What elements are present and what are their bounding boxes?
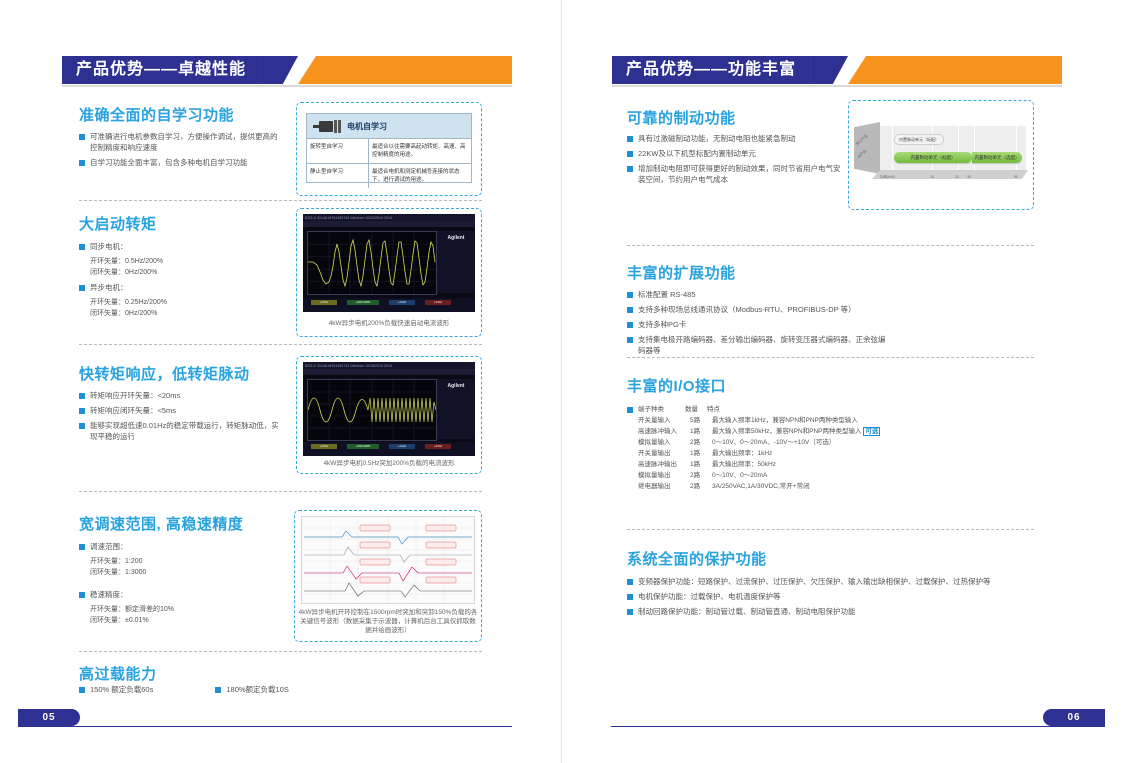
scope-menubar [303, 369, 475, 375]
section-heading-speed-range: 宽调速范围, 高稳速精度 [79, 513, 243, 534]
bullet-text: 能够实现超低速0.01Hz的稳定带载运行，转矩脉动低，实现平稳的运行 [90, 420, 284, 442]
io-qty: 1路 [690, 426, 712, 437]
chart-side-panel [854, 122, 880, 174]
brochure-spread: 产品优势——卓越性能 准确全面的自学习功能 可准确进行电机参数自学习，方便操作调… [0, 0, 1123, 763]
section-heading-torque-response: 快转矩响应，低转矩脉动 [79, 363, 250, 384]
io-qty: 2路 [690, 437, 712, 448]
io-feature: 最大输出频率：50kHz [712, 459, 927, 470]
scope-chip: +0.0A [425, 444, 451, 449]
scope-chip: +0.0A [389, 300, 415, 305]
group-line: 闭环矢量：±0.01% [79, 615, 279, 626]
scope-chip: +0.0A [425, 300, 451, 305]
bullet-text: 150% 额定负载60s [90, 684, 153, 695]
io-feature: 0～10V、0～20mA [712, 470, 927, 481]
oscilloscope-screenshot-1: DSO-X 3014A MY51450742 Infiniium 10/22/2… [303, 214, 475, 312]
bullet-text: 22KW及以下机型标配内置制动单元 [638, 148, 756, 159]
bullet-square-icon [627, 579, 633, 585]
bullet-text: 可准确进行电机参数自学习，方便操作调试，提供更高的控制精度和响应速度 [90, 131, 284, 153]
scope-brand-label: Agilent [437, 231, 475, 241]
bullet-text: 支持多种现场总线通讯协议（Modbus-RTU、PROFIBUS-DP 等） [638, 304, 856, 315]
chart-base [872, 170, 1028, 179]
braking-range-chart: 其它产品 本产品 内置制动单元（标配） 内置制动单元（标配） 内置制动单元（选配… [854, 122, 1030, 184]
footer-rule-left [18, 726, 512, 727]
scope-chip: +0.0A [389, 444, 415, 449]
io-type: 开关量输入 [638, 415, 690, 426]
io-feature: 最大输入频率50kHz，兼容NPN和PNP两种类型输入 可选 [712, 426, 927, 437]
scope-chip: +200.000S [347, 300, 379, 305]
bullet-text: 制动回路保护功能：制动管过载、制动管直通、制动电阻保护功能 [638, 606, 856, 617]
section-divider [627, 245, 1034, 246]
io-header-qty: 数量 [685, 404, 707, 415]
section-divider [79, 344, 482, 345]
bullet-text: 自学习功能全面丰富，包含多种电机自学习功能 [90, 157, 248, 168]
bullets-overload: 150% 额定负载60s 180%额定负载10S [79, 684, 409, 699]
io-type: 开关量输出 [638, 448, 690, 459]
list-item: 转矩响应闭环矢量：<5ms [79, 405, 284, 416]
figure-caption-1: 4kW异步电机200%负载快速启动电流波形 [300, 319, 478, 328]
chart-bar-optional: 内置制动单元（选配） [972, 152, 1022, 163]
bullet-square-icon [79, 423, 85, 429]
list-item: 22KW及以下机型标配内置制动单元 [627, 148, 842, 159]
group-title: 稳速精度： [90, 589, 128, 600]
scope-chip: +0.0A [311, 444, 337, 449]
section-divider [627, 357, 1034, 358]
group-title: 异步电机： [90, 282, 128, 293]
bullet-square-icon [627, 151, 633, 157]
scope-menubar [303, 221, 475, 227]
io-interface-table: 端子种类 数量 特点 开关量输入 5路 最大输入频率1kHz，兼容NPN和PNP… [627, 404, 927, 492]
group-line: 开环矢量：0.25Hz/200% [79, 297, 279, 308]
bullet-square-icon [627, 166, 633, 172]
list-item: 具有过激磁制动功能，无制动电阻也能紧急制动 [627, 133, 842, 144]
scope-side-panel: Agilent [437, 231, 475, 293]
list-item: 标准配置 RS-485 [627, 289, 887, 300]
figure-caption-3: 4kW异步电机开环控制在1500rpm时突加和突卸150%负载的各关键信号波形（… [298, 608, 478, 635]
io-table-row: 高速脉冲输出 1路 最大输出频率：50kHz [627, 459, 927, 470]
group-line: 开环矢量：0.5Hz/200% [79, 256, 279, 267]
chart-tick: 22 [955, 175, 959, 179]
scope-waveform-grid [307, 231, 437, 295]
section-heading-starting-torque: 大启动转矩 [79, 213, 157, 234]
list-item: 变频器保护功能：短路保护、过流保护、过压保护、欠压保护、输入输出缺相保护、过载保… [627, 576, 1027, 587]
table-header-row: 电机自学习 [307, 114, 471, 139]
left-page-banner: 产品优势——卓越性能 [62, 56, 512, 84]
bullet-text: 转矩响应开环矢量：<20ms [90, 390, 180, 401]
bullet-square-icon [627, 292, 633, 298]
group-line: 闭环矢量：0Hz/200% [79, 267, 279, 278]
io-table-row: 高速脉冲输入 1路 最大输入频率50kHz，兼容NPN和PNP两种类型输入 可选 [627, 426, 927, 437]
chart-tick: 30 [967, 175, 971, 179]
table-cell-label: 旋转型自学习 [307, 139, 369, 163]
scope-topbar: DSO-X 3014A MY51450742 Infiniium 10/22/2… [303, 214, 475, 221]
group-line: 开环矢量：1:200 [79, 556, 279, 567]
banner-underline [612, 85, 1062, 87]
io-feature: 0～10V、0～20mA、-10V～+10V（可选） [712, 437, 927, 448]
bullet-text: 180%额定负载10S [226, 684, 289, 695]
bullet-square-icon [627, 594, 633, 600]
scope-bottom-bar: +0.0A +200.000S +0.0A +0.0A [303, 298, 475, 312]
page-right: 产品优势——功能丰富 可靠的制动功能 具有过激磁制动功能，无制动电阻也能紧急制动… [562, 0, 1123, 763]
right-banner-title: 产品优势——功能丰富 [626, 56, 796, 84]
io-feature: 最大输入频率1kHz，兼容NPN和PNP两种类型输入 [712, 415, 927, 426]
table-row: 旋转型自学习 最适合以往需要高起动转矩、高速、高控制精度的用途。 [307, 139, 471, 164]
chart-tick: 90 [1014, 175, 1018, 179]
list-item: 支持多种PG卡 [627, 319, 887, 330]
section-divider [79, 651, 482, 652]
banner-wedge [810, 56, 848, 84]
io-table-row: 开关量输入 5路 最大输入频率1kHz，兼容NPN和PNP两种类型输入 [627, 415, 927, 426]
scope-bottom-bar: +0.0A +200.000S +0.0A +0.0A [303, 442, 475, 456]
bullet-square-icon [627, 609, 633, 615]
bullet-text: 标准配置 RS-485 [638, 289, 696, 300]
motor-self-learning-table: 电机自学习 旋转型自学习 最适合以往需要高起动转矩、高速、高控制精度的用途。 静… [306, 113, 472, 183]
list-item: 能够实现超低速0.01Hz的稳定带载运行，转矩脉动低，实现平稳的运行 [79, 420, 284, 442]
bullet-square-icon [79, 408, 85, 414]
page-left: 产品优势——卓越性能 准确全面的自学习功能 可准确进行电机参数自学习，方便操作调… [0, 0, 561, 763]
list-item: 支持集电极开路编码器、差分输出编码器、旋转变压器式编码器、正余弦编码器等 [627, 334, 887, 356]
bullet-square-icon [627, 337, 633, 343]
io-table-row: 模拟量输入 2路 0～10V、0～20mA、-10V～+10V（可选） [627, 437, 927, 448]
bullet-text: 转矩响应闭环矢量：<5ms [90, 405, 176, 416]
table-cell-desc: 最适合电机和测定机械등连接的状态下，进行调试的用途。 [369, 164, 471, 188]
bullets-speed-range: 调速范围： 开环矢量：1:200 闭环矢量：1:3000 稳速精度： 开环矢量：… [79, 541, 279, 626]
io-feature: 3A/250VAC,1A/30VDC,常开+常闭 [712, 481, 927, 492]
chart-gridline [958, 126, 959, 170]
io-table-header: 端子种类 数量 特点 [627, 404, 927, 415]
section-divider [79, 491, 482, 492]
bullets-torque-response: 转矩响应开环矢量：<20ms 转矩响应闭环矢量：<5ms 能够实现超低速0.01… [79, 390, 284, 446]
bullet-text: 具有过激磁制动功能，无制动电阻也能紧急制动 [638, 133, 796, 144]
chart-axis-label: 功率(kW) [880, 175, 895, 180]
io-qty: 2路 [690, 481, 712, 492]
list-item: 150% 额定负载60s [79, 684, 153, 695]
scope-chip: +200.000S [347, 444, 379, 449]
footer-rule-right [611, 726, 1105, 727]
io-qty: 1路 [690, 459, 712, 470]
io-table-row: 继电器输出 2路 3A/250VAC,1A/30VDC,常开+常闭 [627, 481, 927, 492]
motor-icon [313, 120, 341, 133]
scope-waveform [308, 232, 436, 294]
chart-gridline [974, 126, 975, 170]
bullet-square-icon [627, 136, 633, 142]
io-type: 高速脉冲输入 [638, 426, 690, 437]
bullet-square-icon [79, 134, 85, 140]
list-item: 稳速精度： [79, 589, 279, 600]
signal-plot [302, 517, 474, 603]
bullet-text: 支持多种PG卡 [638, 319, 686, 330]
bullet-square-icon [627, 322, 633, 328]
list-item: 自学习功能全面丰富，包含多种电机自学习功能 [79, 157, 284, 168]
bullet-square-icon [627, 307, 633, 313]
group-line: 闭环矢量：0Hz/200% [79, 308, 279, 319]
scope-chip: +0.0A [311, 300, 337, 305]
figure-caption-2: 4kW异步电机0.5Hz突加200%负载的电流波形 [300, 459, 478, 468]
list-item: 制动回路保护功能：制动管过载、制动管直通、制动电阻保护功能 [627, 606, 1027, 617]
chart-tick: 15 [930, 175, 934, 179]
bullet-square-icon [627, 407, 633, 413]
section-heading-self-learning: 准确全面的自学习功能 [79, 104, 234, 125]
banner-bar: 产品优势——功能丰富 [612, 56, 810, 84]
bullet-square-icon [215, 687, 221, 693]
io-qty: 2路 [690, 470, 712, 481]
section-heading-protection: 系统全面的保护功能 [627, 548, 767, 569]
table-cell-label: 静止型自学习 [307, 164, 369, 188]
bullet-square-icon [79, 687, 85, 693]
chart-bar-standard: 内置制动单元（标配） [894, 152, 972, 163]
bullet-square-icon [79, 244, 85, 250]
list-item: 180%额定负载10S [215, 684, 289, 695]
io-qty: 5路 [690, 415, 712, 426]
bullet-text: 支持集电极开路编码器、差分输出编码器、旋转变压器式编码器、正余弦编码器等 [638, 334, 887, 356]
list-item: 电机保护功能：过载保护、电机温度保护等 [627, 591, 1027, 602]
signal-plot-screenshot [301, 516, 475, 604]
io-table-row: 开关量输出 1路 最大输出频率：1kHz [627, 448, 927, 459]
left-banner-title: 产品优势——卓越性能 [76, 56, 246, 84]
banner-orange-accent [298, 56, 512, 84]
io-table-row: 模拟量输出 2路 0～10V、0～20mA [627, 470, 927, 481]
table-cell-desc: 最适合以往需要高起动转矩、高速、高控制精度的用途。 [369, 139, 471, 163]
table-header-label: 电机自学习 [347, 121, 387, 132]
list-item: 增加制动电阻即可获得更好的制动效果，同时节省用户电气安装空间，节约用户电气成本 [627, 163, 842, 185]
chart-pill-standard: 内置制动单元（标配） [894, 134, 944, 145]
section-divider [79, 200, 482, 201]
section-heading-io: 丰富的I/O接口 [627, 375, 726, 396]
bullet-square-icon [79, 592, 85, 598]
group-line: 开环矢量：额定滑差的10% [79, 604, 279, 615]
io-header-type: 端子种类 [638, 404, 685, 415]
io-feature: 最大输出频率：1kHz [712, 448, 927, 459]
group-title: 调速范围： [90, 541, 128, 552]
group-line: 闭环矢量：1:3000 [79, 567, 279, 578]
bullet-square-icon [79, 393, 85, 399]
io-feature-text: 最大输入频率50kHz，兼容NPN和PNP两种类型输入 [712, 428, 862, 435]
bullets-self-learning: 可准确进行电机参数自学习，方便操作调试，提供更高的控制精度和响应速度 自学习功能… [79, 131, 284, 172]
list-item: 支持多种现场总线通讯协议（Modbus-RTU、PROFIBUS-DP 等） [627, 304, 887, 315]
io-type: 高速脉冲输出 [638, 459, 690, 470]
bullets-protection: 变频器保护功能：短路保护、过流保护、过压保护、欠压保护、输入输出缺相保护、过载保… [627, 576, 1027, 621]
oscilloscope-screenshot-2: DSO-X 3014A MY51450742 Infiniium 10/18/2… [303, 362, 475, 456]
table-row: 静止型自学习 最适合电机和测定机械등连接的状态下，进行调试的用途。 [307, 164, 471, 188]
group-title: 同步电机： [90, 241, 128, 252]
banner-wedge [260, 56, 298, 84]
io-type: 模拟量输出 [638, 470, 690, 481]
bullet-square-icon [79, 285, 85, 291]
section-heading-overload: 高过载能力 [79, 663, 157, 684]
banner-orange-accent [848, 56, 1062, 84]
scope-side-panel: Agilent [437, 379, 475, 439]
list-item: 可准确进行电机参数自学习，方便操作调试，提供更高的控制精度和响应速度 [79, 131, 284, 153]
page-number-right: 06 [1043, 709, 1105, 726]
bullet-square-icon [79, 544, 85, 550]
section-heading-braking: 可靠的制动功能 [627, 107, 736, 128]
scope-waveform [308, 380, 436, 440]
list-item: 异步电机： [79, 282, 279, 293]
section-divider [627, 529, 1034, 530]
page-number-left: 05 [18, 709, 80, 726]
bullet-text: 增加制动电阻即可获得更好的制动效果，同时节省用户电气安装空间，节约用户电气成本 [638, 163, 842, 185]
io-qty: 1路 [690, 448, 712, 459]
io-option-badge: 可选 [863, 427, 880, 436]
section-heading-expansion: 丰富的扩展功能 [627, 262, 736, 283]
bullets-expansion: 标准配置 RS-485 支持多种现场总线通讯协议（Modbus-RTU、PROF… [627, 289, 887, 360]
io-type: 模拟量输入 [638, 437, 690, 448]
chart-gridline [932, 126, 933, 170]
bullet-text: 变频器保护功能：短路保护、过流保护、过压保护、欠压保护、输入输出缺相保护、过载保… [638, 576, 991, 587]
list-item: 同步电机： [79, 241, 279, 252]
bullet-square-icon [79, 160, 85, 166]
chart-gridline [1016, 126, 1017, 170]
io-header-feature: 特点 [707, 404, 927, 415]
scope-topbar: DSO-X 3014A MY51450742 Infiniium 10/18/2… [303, 362, 475, 369]
bullets-braking: 具有过激磁制动功能，无制动电阻也能紧急制动 22KW及以下机型标配内置制动单元 … [627, 133, 842, 189]
right-page-banner: 产品优势——功能丰富 [612, 56, 1062, 84]
list-item: 调速范围： [79, 541, 279, 552]
chart-gridline [892, 126, 893, 170]
bullet-text: 电机保护功能：过载保护、电机温度保护等 [638, 591, 781, 602]
banner-bar: 产品优势——卓越性能 [62, 56, 260, 84]
scope-brand-label: Agilent [437, 379, 475, 389]
scope-waveform-grid [307, 379, 437, 441]
banner-underline [62, 85, 512, 87]
bullets-starting-torque: 同步电机： 开环矢量：0.5Hz/200% 闭环矢量：0Hz/200% 异步电机… [79, 241, 279, 319]
list-item: 转矩响应开环矢量：<20ms [79, 390, 284, 401]
chart-plate [880, 126, 1026, 170]
io-type: 继电器输出 [638, 481, 690, 492]
